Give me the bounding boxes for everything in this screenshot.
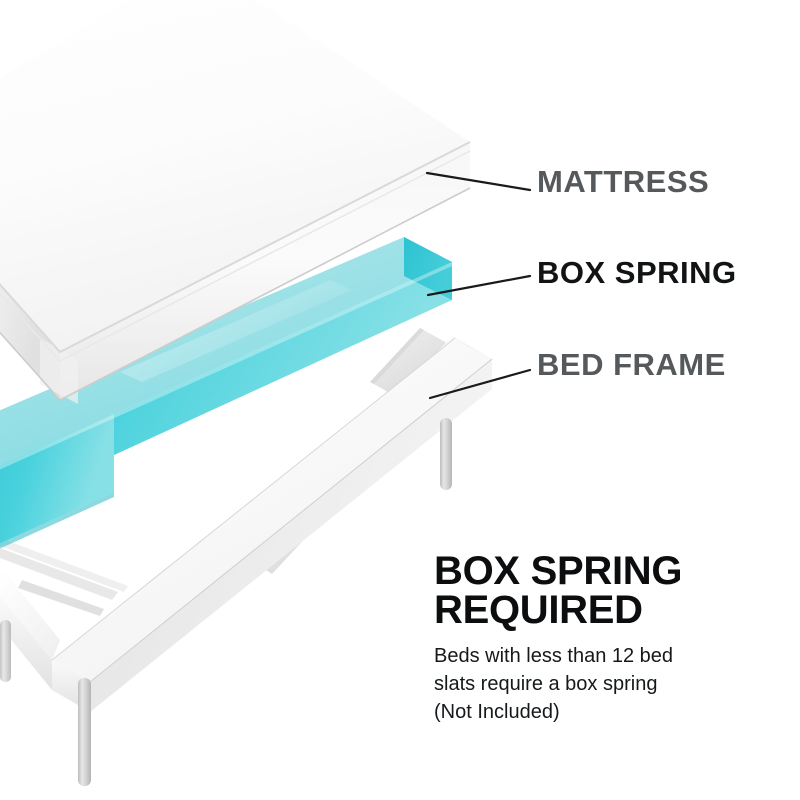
callout-body: Beds with less than 12 bed slats require…: [434, 642, 784, 727]
label-bed-frame: BED FRAME: [537, 349, 726, 380]
bed-frame-leg-right: [440, 418, 452, 490]
callout-headline: BOX SPRING REQUIRED: [434, 552, 784, 630]
callout-headline-line-1: BOX SPRING: [434, 552, 784, 591]
callout-body-line-2: slats require a box spring: [434, 670, 784, 698]
product-diagram-canvas: MATTRESS BOX SPRING BED FRAME BOX SPRING…: [0, 0, 800, 800]
callout-body-line-1: Beds with less than 12 bed: [434, 642, 784, 670]
box-spring-required-callout: BOX SPRING REQUIRED Beds with less than …: [434, 552, 784, 727]
bed-frame-leg-near: [78, 678, 91, 786]
callout-body-line-3: (Not Included): [434, 698, 784, 726]
callout-headline-line-2: REQUIRED: [434, 591, 784, 630]
label-box-spring: BOX SPRING: [537, 257, 737, 288]
bed-frame-leg-far-left: [0, 620, 11, 682]
label-mattress: MATTRESS: [537, 166, 709, 197]
